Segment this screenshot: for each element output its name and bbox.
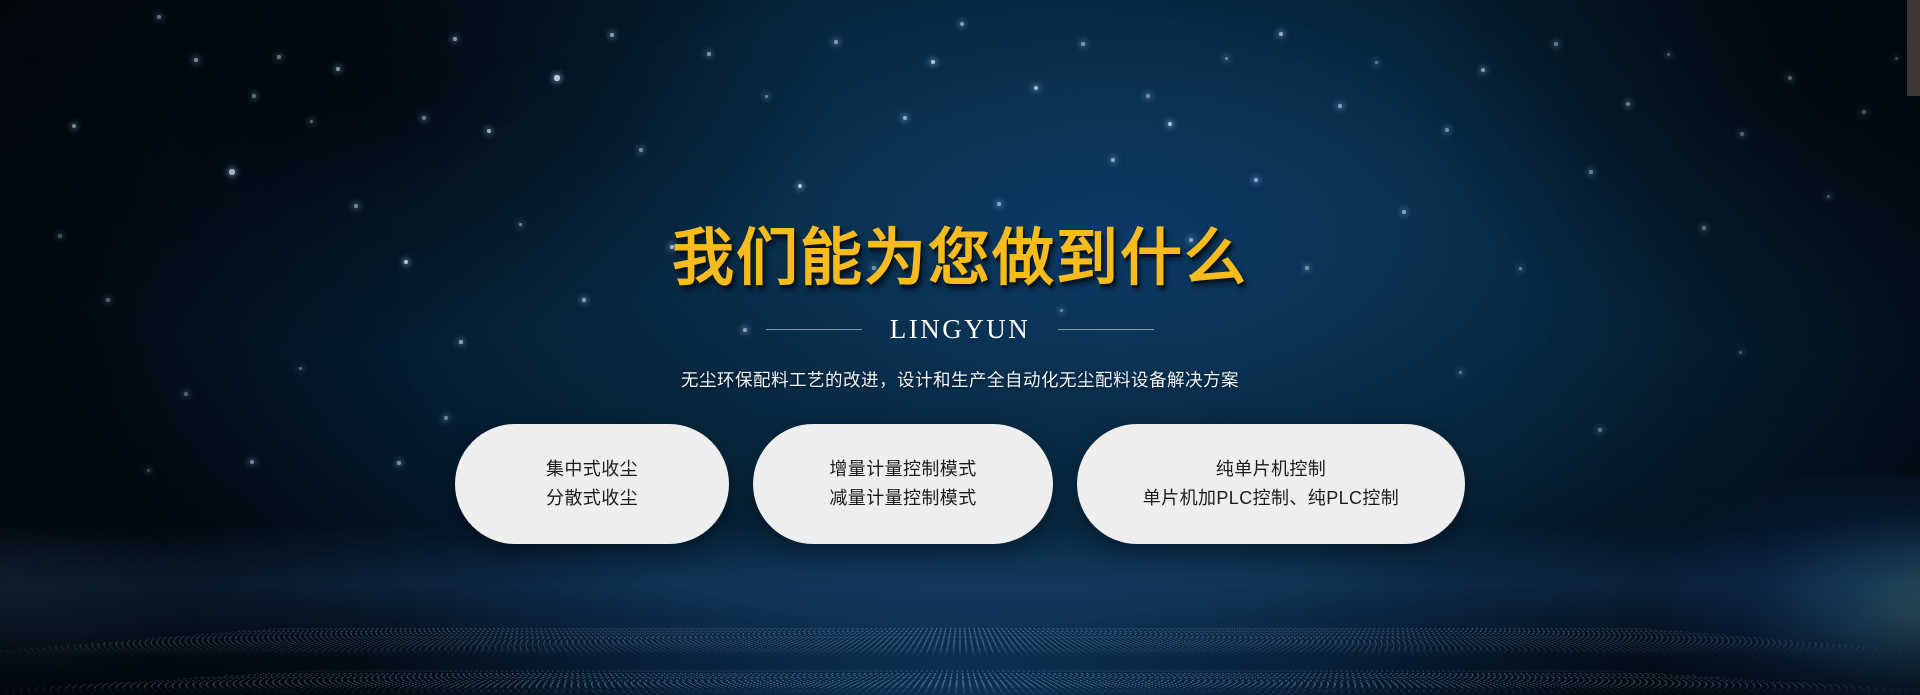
feature-card-list: 集中式收尘 分散式收尘 增量计量控制模式 减量计量控制模式 纯单片机控制 单片机… [0, 424, 1920, 544]
brand-row: LINGYUN [0, 314, 1920, 345]
card-line-primary: 集中式收尘 [546, 460, 638, 480]
divider-left [766, 329, 862, 330]
card-line-secondary: 单片机加PLC控制、纯PLC控制 [1143, 489, 1399, 509]
card-line-secondary: 减量计量控制模式 [829, 489, 976, 509]
feature-card-dust-collection[interactable]: 集中式收尘 分散式收尘 [455, 424, 729, 544]
brand-name: LINGYUN [890, 314, 1030, 345]
banner-description: 无尘环保配料工艺的改进，设计和生产全自动化无尘配料设备解决方案 [0, 367, 1920, 392]
card-line-primary: 纯单片机控制 [1216, 460, 1326, 480]
banner-content: 我们能为您做到什么 LINGYUN 无尘环保配料工艺的改进，设计和生产全自动化无… [0, 0, 1920, 544]
card-line-secondary: 分散式收尘 [546, 489, 638, 509]
card-line-primary: 增量计量控制模式 [829, 460, 976, 480]
banner-hero: 我们能为您做到什么 LINGYUN 无尘环保配料工艺的改进，设计和生产全自动化无… [0, 0, 1920, 695]
feature-card-metering-mode[interactable]: 增量计量控制模式 减量计量控制模式 [753, 424, 1053, 544]
feature-card-control-system[interactable]: 纯单片机控制 单片机加PLC控制、纯PLC控制 [1077, 424, 1465, 544]
page-title: 我们能为您做到什么 [0, 0, 1920, 290]
divider-right [1058, 329, 1154, 330]
